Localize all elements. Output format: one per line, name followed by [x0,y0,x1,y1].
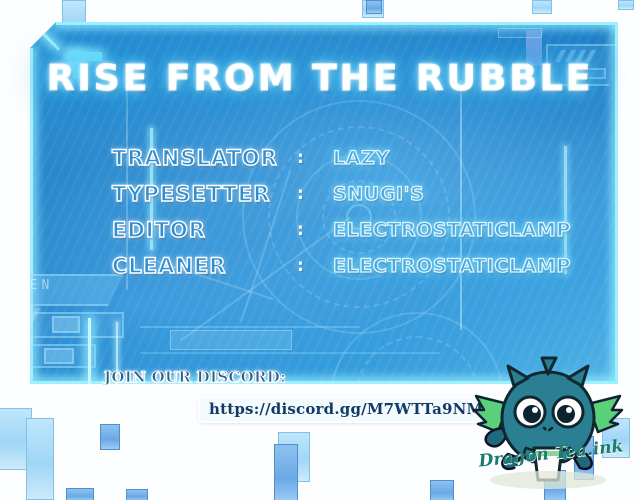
tech-block [0,274,124,306]
circuit-line [140,352,440,354]
page-title: RISE FROM THE RUBBLE [0,58,640,99]
tech-block [44,348,74,364]
credit-name: LAZY [333,147,390,169]
bg-bar [274,444,298,500]
credits-list: TRANSLATOR : LAZY TYPESETTER : SNUGI'S E… [112,140,632,284]
credit-separator: : [297,148,333,168]
credit-role: TYPESETTER [112,182,297,206]
tech-panel-open-label: OPEN [6,278,53,293]
mascot-logo [468,352,628,492]
circuit-line [140,326,360,328]
bg-bar [126,489,148,500]
credit-separator: : [297,184,333,204]
credit-row: TYPESETTER : SNUGI'S [112,176,632,212]
bg-bar [430,480,454,500]
credit-row: CLEANER : ELECTROSTATICLAMP [112,248,632,284]
tech-block [170,330,292,350]
bg-bar [66,488,94,500]
tech-slash [13,308,29,326]
credit-row: TRANSLATOR : LAZY [112,140,632,176]
credit-role: EDITOR [112,218,297,242]
bg-bar [366,0,382,14]
tech-block [498,28,542,38]
bg-bar [100,424,120,450]
bg-bar [618,0,634,10]
credit-row: EDITOR : ELECTROSTATICLAMP [112,212,632,248]
tech-vertical-glow [88,318,91,392]
credit-role: TRANSLATOR [112,146,297,170]
dragon-drinking-tea-icon [468,352,628,492]
discord-invite-link[interactable]: https://discord.gg/M7WTTa9NMS [200,398,503,421]
credit-name: ELECTROSTATICLAMP [333,255,571,277]
credit-name: SNUGI'S [333,183,424,205]
panel-edge-top [56,22,618,25]
bg-bar [532,0,552,14]
credits-page: OPEN RISE FROM THE RUBBLE TRANSLATOR : L… [0,0,640,500]
credit-role: CLEANER [112,254,297,278]
discord-label: JOIN OUR DISCORD: [104,368,286,386]
credit-separator: : [297,256,333,276]
tech-block [52,316,80,333]
bg-bar [26,418,54,500]
credit-name: ELECTROSTATICLAMP [333,219,571,241]
credit-separator: : [297,220,333,240]
